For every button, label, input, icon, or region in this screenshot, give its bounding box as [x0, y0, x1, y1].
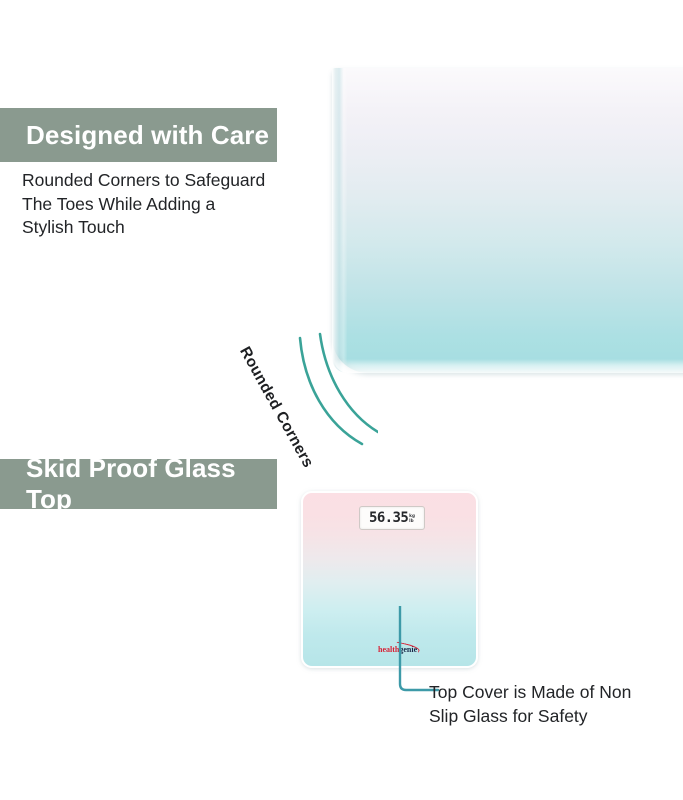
- small-scale-product-image: 56.35 kg lb: [301, 491, 478, 668]
- large-scale-product-image: healthgenie: [332, 68, 683, 373]
- lcd-weight-reading: 56.35: [369, 511, 408, 525]
- healthgenie-logo-small: healthgenie: [378, 646, 417, 654]
- banner-label-skid-proof: Skid Proof Glass Top: [26, 453, 277, 515]
- logo-text-genie-small: genie: [399, 645, 417, 654]
- section-banner-designed-with-care: Designed with Care: [0, 108, 277, 162]
- product-infographic: healthgenie Designed with Care Rounded C…: [0, 0, 683, 800]
- callout-text-non-slip-glass: Top Cover is Made of Non Slip Glass for …: [429, 681, 669, 728]
- lcd-unit-lb: lb: [409, 518, 415, 523]
- section-body-designed-with-care: Rounded Corners to Safeguard The Toes Wh…: [22, 169, 312, 240]
- section-banner-skid-proof-glass-top: Skid Proof Glass Top: [0, 459, 277, 509]
- logo-text-health-small: health: [378, 645, 399, 654]
- lcd-display: 56.35 kg lb: [359, 506, 425, 530]
- banner-label-designed-with-care: Designed with Care: [26, 120, 269, 151]
- lcd-unit-indicator: kg lb: [409, 513, 415, 523]
